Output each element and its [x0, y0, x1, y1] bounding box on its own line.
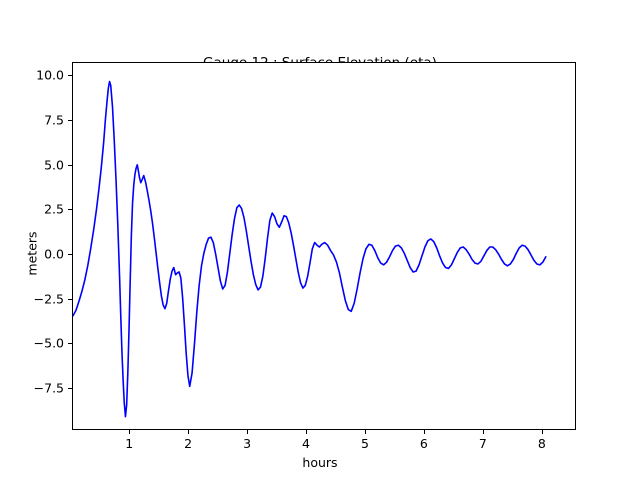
y-axis-tick-mark: [68, 343, 72, 344]
x-axis-tick-label: 8: [538, 436, 546, 451]
y-axis-tick-label: −5.0: [34, 336, 64, 351]
eta-time-series-curve: [73, 63, 577, 431]
x-axis-tick-mark: [542, 430, 543, 434]
x-axis-tick-label: 5: [361, 436, 369, 451]
y-axis-tick-label: 10.0: [36, 68, 64, 83]
y-axis-tick-mark: [68, 254, 72, 255]
y-axis-tick-label: −7.5: [34, 381, 64, 396]
x-axis-tick-label: 2: [184, 436, 192, 451]
figure-canvas: Gauge 12 : Surface Elevation (eta) max(e…: [0, 0, 640, 480]
x-axis-tick-label: 7: [479, 436, 487, 451]
x-axis-tick-mark: [129, 430, 130, 434]
x-axis-tick-mark: [247, 430, 248, 434]
y-axis-tick-mark: [68, 165, 72, 166]
x-axis-tick-label: 4: [302, 436, 310, 451]
y-axis-tick-mark: [68, 120, 72, 121]
x-axis-tick-mark: [306, 430, 307, 434]
y-axis-tick-mark: [68, 75, 72, 76]
x-axis-tick-mark: [365, 430, 366, 434]
x-axis-tick-label: 3: [243, 436, 251, 451]
x-axis-tick-label: 1: [125, 436, 133, 451]
x-axis-tick-mark: [188, 430, 189, 434]
x-axis-tick-mark: [424, 430, 425, 434]
x-axis-tick-mark: [483, 430, 484, 434]
plot-area: [72, 62, 576, 430]
y-axis-tick-mark: [68, 388, 72, 389]
y-axis-tick-mark: [68, 299, 72, 300]
y-axis-tick-label: 5.0: [44, 157, 64, 172]
y-axis-label: meters: [25, 214, 40, 294]
x-axis-label: hours: [0, 455, 640, 470]
y-axis-tick-label: 7.5: [44, 113, 64, 128]
x-axis-tick-label: 6: [420, 436, 428, 451]
y-axis-tick-mark: [68, 209, 72, 210]
y-axis-tick-label: 0.0: [44, 247, 64, 262]
y-axis-tick-label: 2.5: [44, 202, 64, 217]
